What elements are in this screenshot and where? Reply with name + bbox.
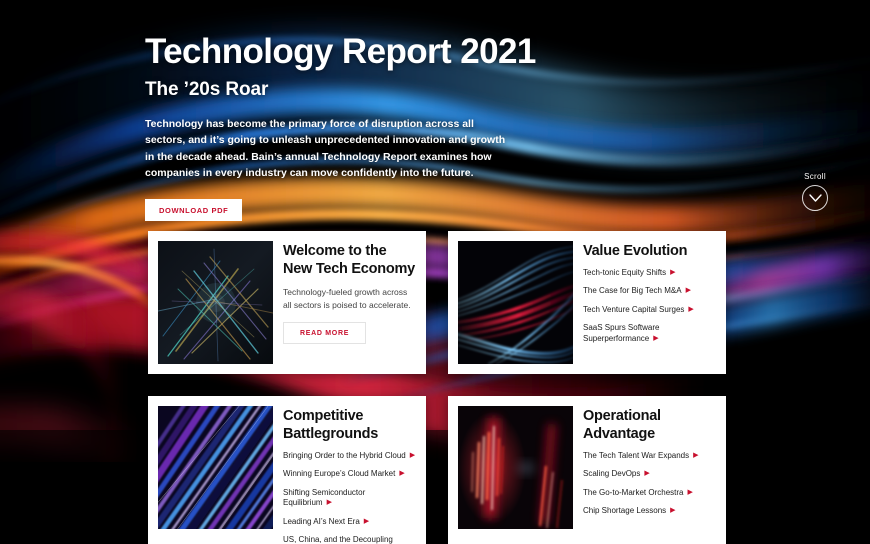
link-label: Chip Shortage Lessons bbox=[583, 506, 666, 515]
list-item[interactable]: Tech-tonic Equity Shifts▶ bbox=[583, 268, 716, 278]
list-item[interactable]: The Case for Big Tech M&A▶ bbox=[583, 286, 716, 296]
card-description: Technology-fueled growth across all sect… bbox=[283, 286, 416, 312]
link-label: US, China, and the Decoupling Push bbox=[283, 535, 393, 544]
link-label: The Tech Talent War Expands bbox=[583, 451, 689, 460]
card-value-evolution[interactable]: Value Evolution Tech-tonic Equity Shifts… bbox=[448, 231, 726, 374]
card-welcome-to-the-new-tech-economy[interactable]: Welcome to the New Tech Economy Technolo… bbox=[148, 231, 426, 374]
arrow-right-icon: ▶ bbox=[687, 489, 692, 496]
scroll-indicator[interactable]: Scroll bbox=[790, 172, 840, 211]
card-content: Competitive Battlegrounds Bringing Order… bbox=[283, 406, 416, 544]
card-content: Welcome to the New Tech Economy Technolo… bbox=[283, 241, 416, 344]
card-competitive-battlegrounds[interactable]: Competitive Battlegrounds Bringing Order… bbox=[148, 396, 426, 544]
scroll-down-button[interactable] bbox=[802, 185, 828, 211]
arrow-right-icon: ▶ bbox=[688, 306, 693, 313]
list-item[interactable]: Chip Shortage Lessons▶ bbox=[583, 506, 716, 516]
list-item[interactable]: US, China, and the Decoupling Push▶ bbox=[283, 535, 416, 544]
card-thumbnail-purple-blue-diagonal-streaks bbox=[158, 406, 273, 529]
card-link-list: Tech-tonic Equity Shifts▶ The Case for B… bbox=[583, 268, 716, 344]
card-thumbnail-abstract-crystal-shards bbox=[158, 241, 273, 364]
page-title: Technology Report 2021 bbox=[145, 32, 575, 71]
report-card-grid: Welcome to the New Tech Economy Technolo… bbox=[148, 231, 726, 544]
list-item[interactable]: The Tech Talent War Expands▶ bbox=[583, 451, 716, 461]
arrow-right-icon: ▶ bbox=[670, 507, 675, 514]
card-content: Operational Advantage The Tech Talent Wa… bbox=[583, 406, 716, 517]
card-link-list: The Tech Talent War Expands▶ Scaling Dev… bbox=[583, 451, 716, 517]
link-label: Bringing Order to the Hybrid Cloud bbox=[283, 451, 406, 460]
read-more-button[interactable]: READ MORE bbox=[283, 322, 366, 344]
arrow-right-icon: ▶ bbox=[670, 269, 675, 276]
arrow-right-icon: ▶ bbox=[364, 518, 369, 525]
link-label: Tech Venture Capital Surges bbox=[583, 305, 684, 314]
list-item[interactable]: Tech Venture Capital Surges▶ bbox=[583, 305, 716, 315]
card-title: Competitive Battlegrounds bbox=[283, 408, 416, 444]
chevron-down-icon bbox=[809, 194, 822, 203]
link-label: SaaS Spurs Software Superperformance bbox=[583, 323, 659, 342]
arrow-right-icon: ▶ bbox=[399, 470, 404, 477]
hero-description: Technology has become the primary force … bbox=[145, 116, 515, 181]
list-item[interactable]: Shifting Semiconductor Equilibrium▶ bbox=[283, 488, 416, 509]
card-title: Welcome to the New Tech Economy bbox=[283, 243, 416, 279]
card-content: Value Evolution Tech-tonic Equity Shifts… bbox=[583, 241, 716, 344]
list-item[interactable]: Winning Europe’s Cloud Market▶ bbox=[283, 469, 416, 479]
scroll-label: Scroll bbox=[790, 172, 840, 181]
arrow-right-icon: ▶ bbox=[327, 499, 332, 506]
card-operational-advantage[interactable]: Operational Advantage The Tech Talent Wa… bbox=[448, 396, 726, 544]
arrow-right-icon: ▶ bbox=[653, 335, 658, 342]
hero-section: Technology Report 2021 The ’20s Roar Tec… bbox=[145, 32, 575, 221]
card-title: Value Evolution bbox=[583, 243, 716, 261]
link-label: The Go-to-Market Orchestra bbox=[583, 488, 683, 497]
list-item[interactable]: Bringing Order to the Hybrid Cloud▶ bbox=[283, 451, 416, 461]
arrow-right-icon: ▶ bbox=[410, 452, 415, 459]
list-item[interactable]: SaaS Spurs Software Superperformance▶ bbox=[583, 323, 716, 344]
list-item[interactable]: Leading AI’s Next Era▶ bbox=[283, 517, 416, 527]
arrow-right-icon: ▶ bbox=[644, 470, 649, 477]
link-label: Leading AI’s Next Era bbox=[283, 517, 360, 526]
link-label: The Case for Big Tech M&A bbox=[583, 286, 682, 295]
page-subtitle: The ’20s Roar bbox=[145, 79, 575, 101]
arrow-right-icon: ▶ bbox=[686, 287, 691, 294]
arrow-right-icon: ▶ bbox=[693, 452, 698, 459]
technology-report-landing-page: Technology Report 2021 The ’20s Roar Tec… bbox=[0, 0, 870, 544]
list-item[interactable]: The Go-to-Market Orchestra▶ bbox=[583, 488, 716, 498]
download-pdf-button[interactable]: DOWNLOAD PDF bbox=[145, 199, 242, 221]
link-label: Winning Europe’s Cloud Market bbox=[283, 469, 395, 478]
link-label: Shifting Semiconductor Equilibrium bbox=[283, 488, 365, 507]
card-link-list: Bringing Order to the Hybrid Cloud▶ Winn… bbox=[283, 451, 416, 544]
link-label: Tech-tonic Equity Shifts bbox=[583, 268, 666, 277]
card-thumbnail-red-vertical-light-streaks bbox=[458, 406, 573, 529]
card-thumbnail-blue-red-light-waves bbox=[458, 241, 573, 364]
link-label: Scaling DevOps bbox=[583, 469, 640, 478]
list-item[interactable]: Scaling DevOps▶ bbox=[583, 469, 716, 479]
card-title: Operational Advantage bbox=[583, 408, 716, 444]
